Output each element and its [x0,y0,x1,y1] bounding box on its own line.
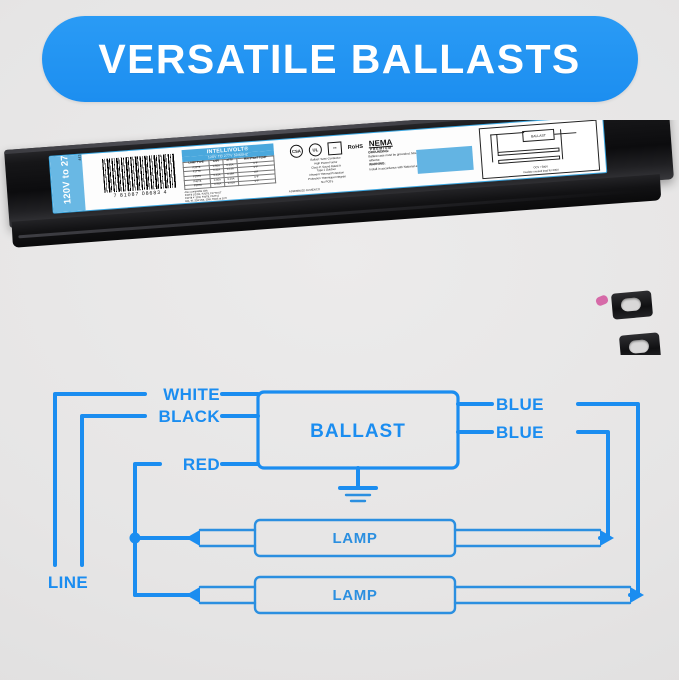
mini-wire [490,132,524,135]
banner-title: VERSATILE BALLASTS [98,36,580,83]
product-photo-region: 120V to 277V 4430 200 33881 REV. B 7 810… [0,120,679,355]
energy-label-icon: ≡≡ [327,141,342,155]
csa-mark-icon: CSA [289,144,303,158]
rohs-mark: RoHS [348,143,364,150]
line-label: LINE [48,573,88,592]
ul-listed-mark-icon: UL [308,143,322,157]
mini-lamp-1 [498,147,560,156]
label-blue-swatch [416,146,474,174]
mini-diagram-caption: OCV • 580V Insulate unused lead for 600V [483,162,599,177]
wiring-diagram: BALLAST LAMP LAMP WHITE BLACK RED BLUE B… [0,360,679,680]
lamp1-left-connector-icon [186,530,200,546]
versatile-ballasts-banner: VERSATILE BALLASTS [42,16,638,102]
wire-label-red: RED [183,455,220,474]
mini-lamp-2 [498,155,560,164]
barcode-bars-icon [102,154,176,193]
mounting-bracket-right-top [611,290,653,319]
bracket-hole-icon [620,297,641,312]
barcode: 7 81087 08683 4 [102,154,177,203]
wire-blue-bottom-run [578,432,608,538]
spec-table-block: INTELLIVOLT® 120V TO 277V 50/60HZ LAMP T… [182,143,278,203]
bracket-hole-icon [628,339,649,354]
label-blue-strip: 120V to 277V [50,154,86,212]
wire-red-run [135,464,160,595]
lamp-label-1: LAMP [333,530,378,547]
certification-subtext: Ballast: Semi-Conductor High Power Facto… [291,155,363,186]
mini-wire [490,134,493,162]
ballast-device-image: 120V to 277V 4430 200 33881 REV. B 7 810… [4,120,676,258]
mini-ballast-box: BALLAST [522,129,555,142]
mini-wire [496,134,498,152]
wire-label-blue-top: BLUE [496,395,544,414]
pink-wire-end [595,294,609,307]
mounting-bracket-right-bottom [619,332,661,355]
voltage-range-text: 120V to 277V [58,146,73,205]
label-wiring-diagram: BALLAST OCV • 580V Insulate unused lead … [479,120,600,179]
made-in-text: ASSEMBLED IN MEXICO [289,188,320,193]
lamp-label-2: LAMP [333,587,378,604]
header-banner-region: VERSATILE BALLASTS [0,0,679,118]
wire-label-blue-bottom: BLUE [496,423,544,442]
wire-label-black: BLACK [159,407,221,426]
lamp2-left-connector-icon [186,587,200,603]
ballast-box-label: BALLAST [310,421,406,442]
wire-label-white: WHITE [163,385,220,404]
mini-wire [554,132,576,134]
